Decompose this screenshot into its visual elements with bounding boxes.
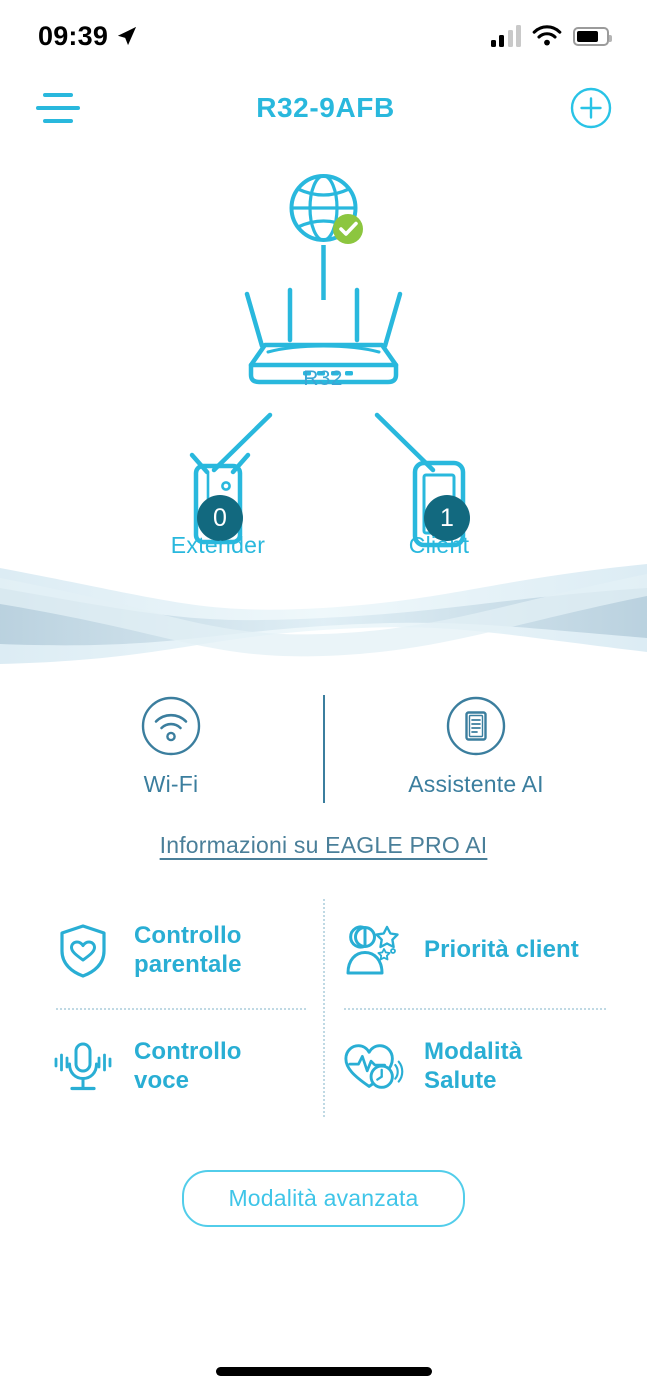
ai-assistant-document-icon <box>445 695 507 757</box>
topology-links <box>214 245 433 470</box>
feature-client-priority[interactable]: Priorità client <box>324 893 613 1008</box>
check-circle-icon <box>333 214 363 244</box>
feature-parental-control-label: Controllo parentale <box>134 922 242 979</box>
microphone-icon <box>52 1039 114 1095</box>
feature-voice-control[interactable]: Controllo voce <box>34 1009 323 1124</box>
extender-label[interactable]: Extender <box>138 532 298 559</box>
app-screen: 09:39 R32-9AFB <box>0 0 647 1400</box>
feature-label-line1: Modalità <box>424 1038 522 1066</box>
feature-label-line1: Priorità client <box>424 936 579 964</box>
page-title: R32-9AFB <box>256 92 395 124</box>
wave-shapes <box>0 560 647 680</box>
shield-heart-icon-wrap <box>52 922 114 980</box>
client-label[interactable]: Client <box>359 532 519 559</box>
shield-heart-icon <box>56 922 110 980</box>
feature-label-line1: Controllo <box>134 922 242 950</box>
heart-pulse-clock-icon-wrap <box>342 1039 404 1095</box>
home-indicator-bar[interactable] <box>216 1367 432 1376</box>
feature-health-mode-label: Modalità Salute <box>424 1038 522 1095</box>
microphone-icon-wrap <box>52 1039 114 1095</box>
extender-count-value: 0 <box>213 504 227 533</box>
wifi-icon <box>532 25 562 47</box>
quick-action-ai-assistant-label: Assistente AI <box>408 771 544 798</box>
advanced-mode-wrapper: Modalità avanzata <box>0 1170 647 1227</box>
quick-actions-row: Wi-Fi Assistente AI <box>0 695 647 820</box>
cellular-signal-icon <box>491 25 522 47</box>
hamburger-menu-icon[interactable] <box>34 88 82 128</box>
feature-label-line1: Controllo <box>134 1038 242 1066</box>
quick-action-wifi[interactable]: Wi-Fi <box>64 695 279 798</box>
quick-action-wifi-label: Wi-Fi <box>144 771 199 798</box>
quick-action-ai-assistant[interactable]: Assistente AI <box>369 695 584 798</box>
feature-grid: Controllo parentale Priorità client <box>34 893 613 1123</box>
quick-actions-divider <box>323 695 325 803</box>
status-time-text: 09:39 <box>38 21 108 52</box>
router-label: R32 <box>273 367 373 391</box>
app-header: R32-9AFB <box>0 72 647 144</box>
feature-label-line2: parentale <box>134 951 242 979</box>
person-stars-icon <box>343 923 403 979</box>
advanced-mode-button[interactable]: Modalità avanzata <box>182 1170 464 1227</box>
battery-icon <box>573 27 609 46</box>
feature-parental-control[interactable]: Controllo parentale <box>34 893 323 1008</box>
client-count-value: 1 <box>440 504 454 533</box>
plus-circle-icon[interactable] <box>569 86 613 130</box>
heart-pulse-clock-icon <box>342 1039 404 1095</box>
location-arrow-icon <box>115 25 138 48</box>
feature-voice-control-label: Controllo voce <box>134 1038 242 1095</box>
about-eagle-pro-ai-link[interactable]: Informazioni su EAGLE PRO AI <box>160 832 488 858</box>
wifi-circle-icon <box>140 695 202 757</box>
decorative-wave-band <box>0 560 647 680</box>
feature-client-priority-label: Priorità client <box>424 936 579 964</box>
status-indicators <box>491 25 610 47</box>
status-bar: 09:39 <box>0 0 647 72</box>
feature-label-line2: Salute <box>424 1067 522 1095</box>
info-link-wrapper: Informazioni su EAGLE PRO AI <box>0 832 647 859</box>
person-stars-icon-wrap <box>342 923 404 979</box>
network-topology: 0 1 R32 Extender Client <box>0 160 647 580</box>
status-time-group: 09:39 <box>38 21 138 52</box>
feature-label-line2: voce <box>134 1067 242 1095</box>
feature-health-mode[interactable]: Modalità Salute <box>324 1009 613 1124</box>
